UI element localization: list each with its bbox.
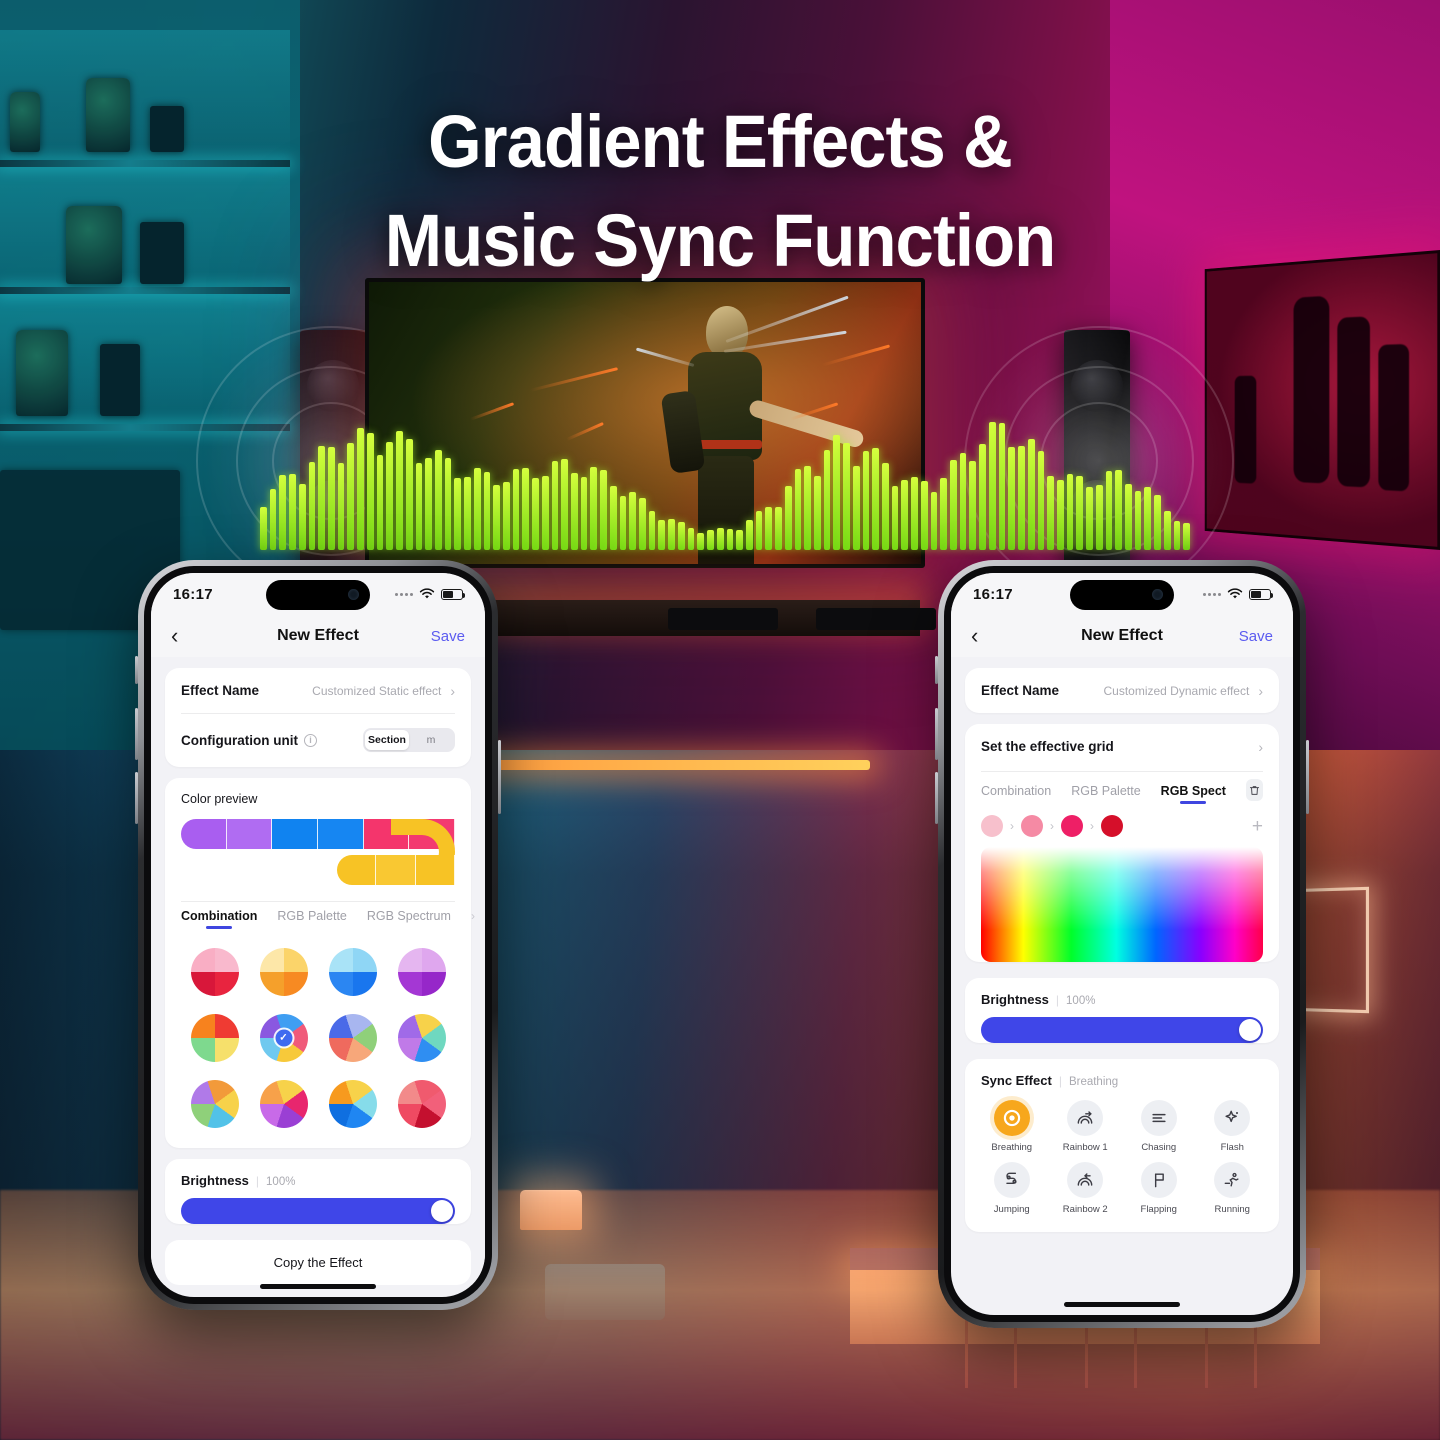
sync-effect-label: Flapping	[1141, 1204, 1177, 1216]
color-dot[interactable]	[981, 815, 1003, 837]
sync-effect-flash[interactable]: Flash	[1198, 1100, 1268, 1154]
phone-left: 16:17 ‹ New Effect Save Effect Name	[138, 560, 498, 1310]
color-wheel-option[interactable]	[260, 1080, 308, 1128]
tab-rgb-palette[interactable]: RGB Palette	[277, 909, 346, 930]
sync-effect-label: Chasing	[1141, 1142, 1176, 1154]
color-dot[interactable]	[1021, 815, 1043, 837]
color-dot-row: ›››+	[965, 805, 1279, 843]
settings-card: Effect Name Customized Static effect › C…	[165, 668, 471, 767]
configuration-unit-row[interactable]: Configuration unit i Section m	[165, 713, 471, 767]
brightness-slider[interactable]	[181, 1198, 455, 1224]
sync-effect-label: Jumping	[994, 1204, 1030, 1216]
tabs-overflow-icon[interactable]: ›	[471, 909, 475, 930]
effect-name-value: Customized Dynamic effect	[1103, 684, 1249, 698]
sync-effect-label: Flash	[1221, 1142, 1244, 1154]
color-wheel-option[interactable]	[191, 1080, 239, 1128]
sync-effect-jumping[interactable]: Jumping	[977, 1162, 1047, 1216]
dot-arrow-icon: ›	[1090, 819, 1094, 833]
preview-segment	[416, 855, 455, 885]
media-console	[816, 608, 936, 630]
preview-u-turn	[337, 819, 455, 885]
effect-name-label: Effect Name	[181, 683, 259, 698]
color-mode-tabs: Combination RGB Palette RGB Spect	[965, 769, 1279, 805]
chevron-right-icon: ›	[1258, 684, 1263, 698]
signal-icon	[395, 593, 413, 596]
jumping-icon	[994, 1162, 1030, 1198]
color-wheel-option[interactable]	[260, 948, 308, 996]
flash-icon	[1214, 1100, 1250, 1136]
brightness-card: Brightness | 100%	[165, 1159, 471, 1224]
info-icon[interactable]: i	[304, 734, 317, 747]
effective-grid-label: Set the effective grid	[981, 739, 1114, 754]
nav-title: New Effect	[277, 627, 359, 645]
effect-name-label: Effect Name	[981, 683, 1059, 698]
nav-bar: ‹ New Effect Save	[151, 615, 485, 657]
tab-combination[interactable]: Combination	[181, 909, 257, 930]
secondary-tv	[1205, 250, 1440, 550]
brightness-value: 100%	[266, 1176, 295, 1188]
brightness-separator: |	[1056, 993, 1059, 1007]
color-dot[interactable]	[1101, 815, 1123, 837]
color-wheel-option[interactable]	[329, 1080, 377, 1128]
sync-effect-label: Sync Effect	[981, 1073, 1052, 1088]
unit-option-m[interactable]: m	[409, 730, 453, 750]
audio-waveform	[260, 420, 1190, 550]
dynamic-island	[1070, 580, 1174, 610]
phone-right-power-button[interactable]	[1306, 740, 1309, 814]
page-title: Gradient Effects & Music Sync Function	[50, 92, 1389, 290]
color-wheel-option[interactable]	[329, 948, 377, 996]
sync-effect-label: Rainbow 2	[1063, 1204, 1108, 1216]
brightness-label: Brightness	[981, 992, 1049, 1007]
status-bar: 16:17	[951, 573, 1293, 615]
signal-icon	[1203, 593, 1221, 596]
color-wheel-option[interactable]	[329, 1014, 377, 1062]
sync-effect-label: Running	[1215, 1204, 1250, 1216]
brightness-label: Brightness	[181, 1173, 249, 1188]
check-icon: ✓	[275, 1030, 292, 1047]
trash-icon[interactable]	[1246, 779, 1263, 801]
effect-name-card: Effect Name Customized Dynamic effect ›	[965, 668, 1279, 713]
color-wheel-option[interactable]	[398, 1014, 446, 1062]
sync-effect-chasing[interactable]: Chasing	[1124, 1100, 1194, 1154]
dot-arrow-icon: ›	[1010, 819, 1014, 833]
phone-right-volume-up[interactable]	[935, 708, 938, 760]
wifi-icon	[419, 588, 435, 600]
sync-effect-flapping[interactable]: Flapping	[1124, 1162, 1194, 1216]
home-indicator[interactable]	[1064, 1302, 1180, 1307]
dot-arrow-icon: ›	[1050, 819, 1054, 833]
sync-effect-separator: |	[1059, 1074, 1062, 1088]
phone-right-volume-down[interactable]	[935, 772, 938, 824]
running-icon	[1214, 1162, 1250, 1198]
brightness-value: 100%	[1066, 995, 1095, 1007]
preview-segment	[227, 819, 273, 849]
preview-segment	[181, 819, 227, 849]
sync-effect-label: Rainbow 1	[1063, 1142, 1108, 1154]
sync-effect-label: Breathing	[991, 1142, 1032, 1154]
unit-segmented-control[interactable]: Section m	[363, 728, 455, 752]
front-camera-icon	[348, 589, 359, 600]
sync-effect-running[interactable]: Running	[1198, 1162, 1268, 1216]
slider-knob[interactable]	[1239, 1019, 1261, 1041]
sync-effect-rainbow-1[interactable]: Rainbow 1	[1051, 1100, 1121, 1154]
back-button[interactable]: ‹	[171, 625, 178, 647]
status-bar: 16:17	[151, 573, 485, 615]
effect-name-row[interactable]: Effect Name Customized Dynamic effect ›	[965, 668, 1279, 713]
rainbow-2-icon	[1067, 1162, 1103, 1198]
brightness-card: Brightness | 100%	[965, 978, 1279, 1043]
chasing-icon	[1141, 1100, 1177, 1136]
color-preview-strip[interactable]	[165, 806, 471, 899]
preview-segment	[272, 819, 318, 849]
sync-effect-rainbow-2[interactable]: Rainbow 2	[1051, 1162, 1121, 1216]
status-time: 16:17	[173, 586, 213, 603]
battery-icon	[1249, 589, 1271, 600]
flapping-icon	[1141, 1162, 1177, 1198]
sync-effect-grid: BreathingRainbow 1ChasingFlashJumpingRai…	[965, 1088, 1279, 1232]
phone-right: 16:17 ‹ New Effect Save Effect Name	[938, 560, 1306, 1328]
copy-effect-button[interactable]: Copy the Effect	[165, 1240, 471, 1285]
color-wheel-option[interactable]	[191, 948, 239, 996]
brightness-separator: |	[256, 1174, 259, 1188]
phone-left-volume-down[interactable]	[135, 772, 138, 824]
add-color-button[interactable]: +	[1252, 817, 1263, 836]
nav-bar: ‹ New Effect Save	[951, 615, 1293, 657]
color-wheel-grid: ✓	[165, 930, 471, 1148]
sync-effect-card: Sync Effect | Breathing BreathingRainbow…	[965, 1059, 1279, 1232]
battery-icon	[441, 589, 463, 600]
tab-rgb-spectrum[interactable]: RGB Spectrum	[367, 909, 451, 930]
chevron-right-icon: ›	[1258, 740, 1263, 754]
status-time: 16:17	[973, 586, 1013, 603]
effect-name-value: Customized Static effect	[312, 684, 441, 698]
media-console	[668, 608, 778, 630]
effect-name-row[interactable]: Effect Name Customized Static effect ›	[165, 668, 471, 713]
brightness-slider[interactable]	[981, 1017, 1263, 1043]
configuration-unit-label: Configuration unit	[181, 733, 298, 748]
tab-rgb-palette[interactable]: RGB Palette	[1071, 784, 1140, 805]
save-button[interactable]: Save	[431, 628, 465, 645]
wifi-icon	[1227, 588, 1243, 600]
effective-grid-row[interactable]: Set the effective grid ›	[965, 724, 1279, 769]
color-config-card: Set the effective grid › Combination RGB…	[965, 724, 1279, 962]
color-preview-card: Color preview Combination RGB Palette RG…	[165, 778, 471, 1148]
slider-knob[interactable]	[431, 1200, 453, 1222]
headline-line-2: Music Sync Function	[50, 191, 1389, 290]
chevron-right-icon: ›	[450, 684, 455, 698]
rainbow-1-icon	[1067, 1100, 1103, 1136]
preview-segment	[337, 855, 376, 885]
phone-right-mute-switch[interactable]	[935, 656, 938, 684]
color-dot[interactable]	[1061, 815, 1083, 837]
phone-left-mute-switch[interactable]	[135, 656, 138, 684]
color-wheel-option[interactable]: ✓	[260, 1014, 308, 1062]
tab-rgb-spectrum[interactable]: RGB Spect	[1161, 784, 1226, 805]
back-button[interactable]: ‹	[971, 625, 978, 647]
tab-combination[interactable]: Combination	[981, 784, 1051, 805]
dynamic-island	[266, 580, 370, 610]
color-mode-tabs: Combination RGB Palette RGB Spectrum ›	[165, 899, 471, 930]
unit-option-section[interactable]: Section	[365, 730, 409, 750]
phone-left-volume-up[interactable]	[135, 708, 138, 760]
nav-title: New Effect	[1081, 627, 1163, 645]
preview-bottom-segments	[337, 855, 455, 885]
color-wheel-option[interactable]	[398, 1080, 446, 1128]
breathing-icon	[994, 1100, 1030, 1136]
sync-effect-value: Breathing	[1069, 1076, 1118, 1088]
rgb-spectrum-picker[interactable]	[981, 847, 1263, 962]
color-wheel-option[interactable]	[398, 948, 446, 996]
phone-left-power-button[interactable]	[498, 740, 501, 814]
preview-segment	[376, 855, 415, 885]
sync-effect-breathing[interactable]: Breathing	[977, 1100, 1047, 1154]
front-camera-icon	[1152, 589, 1163, 600]
home-indicator[interactable]	[260, 1284, 376, 1289]
color-wheel-option[interactable]	[191, 1014, 239, 1062]
color-preview-title: Color preview	[165, 778, 471, 806]
headline-line-1: Gradient Effects &	[50, 92, 1389, 191]
save-button[interactable]: Save	[1239, 628, 1273, 645]
